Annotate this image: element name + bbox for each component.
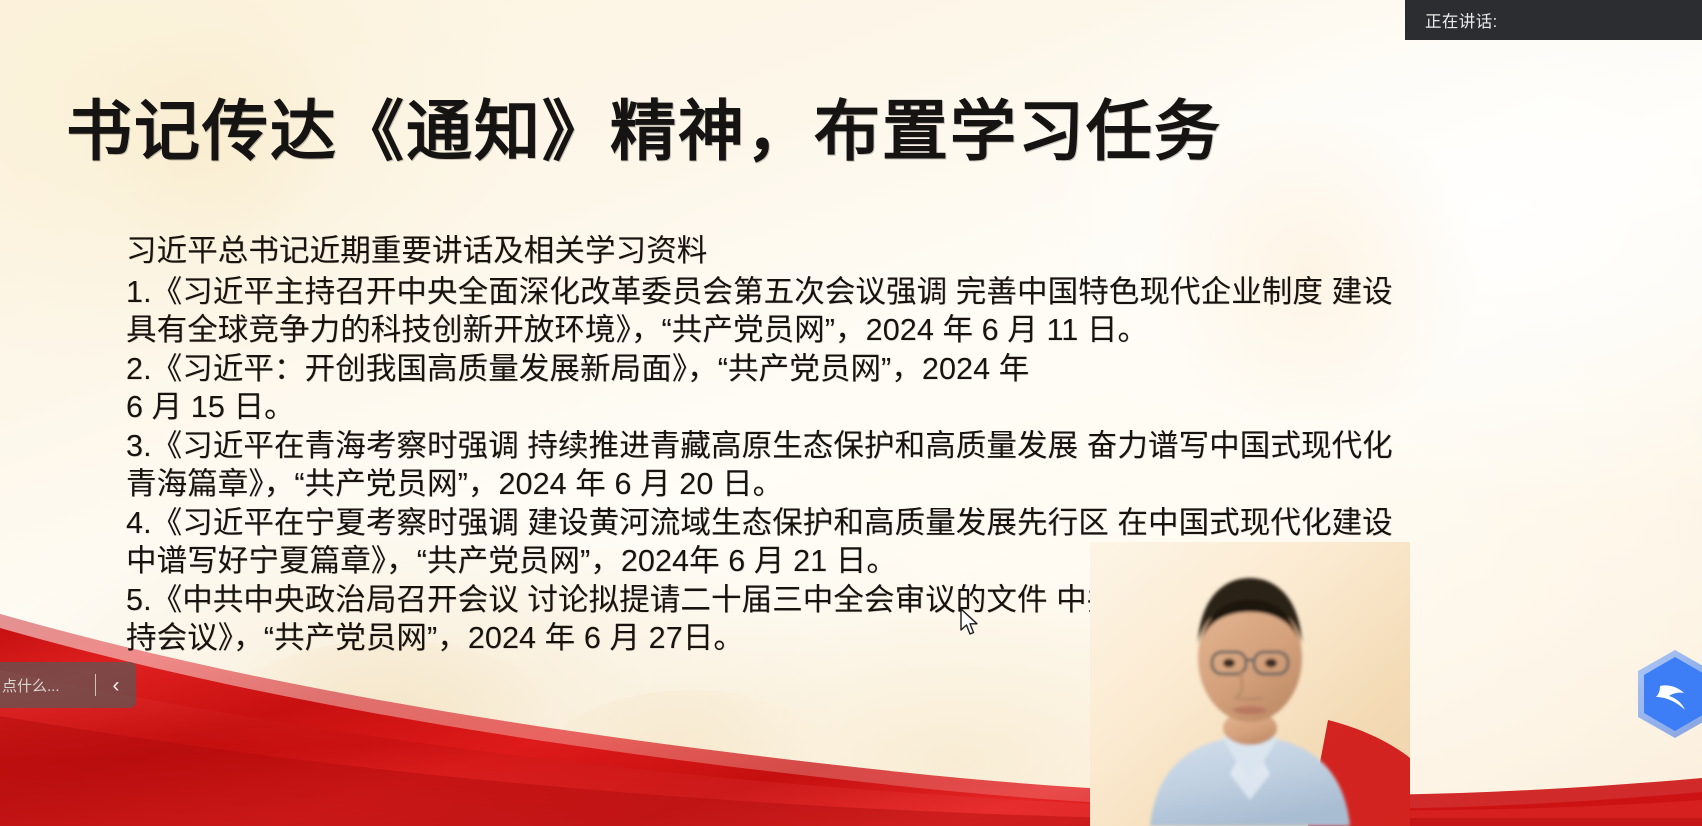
slide-title: 书记传达《通知》精神，布置学习任务: [66, 78, 1222, 174]
app-watermark-badge-icon: [1632, 648, 1702, 744]
slide-reference-item: 2.《习近平：开创我国高质量发展新局面》，“共产党员网”，2024 年: [126, 350, 1416, 389]
chat-input-bar[interactable]: 点什么... ‹: [0, 662, 136, 708]
screen-share-view: 书记传达《通知》精神，布置学习任务 习近平总书记近期重要讲话及相关学习资料 1.…: [0, 0, 1702, 826]
participant-video-thumbnail[interactable]: [1090, 542, 1410, 826]
slide-body-heading: 习近平总书记近期重要讲话及相关学习资料: [126, 232, 1416, 271]
slide-reference-item: 6 月 15 日。: [126, 388, 1416, 427]
chat-input-placeholder[interactable]: 点什么...: [0, 662, 95, 708]
cloud-motif: [180, 640, 600, 826]
speaking-status-label: 正在讲话:: [1425, 8, 1498, 32]
slide-reference-item: 1.《习近平主持召开中央全面深化改革委员会第五次会议强调 完善中国特色现代企业制…: [126, 273, 1416, 350]
chevron-left-icon[interactable]: ‹: [96, 662, 136, 708]
speaking-status-bar: 正在讲话:: [1405, 0, 1702, 40]
cloud-motif: [520, 690, 860, 826]
slide-reference-item: 3.《习近平在青海考察时强调 持续推进青藏高原生态保护和高质量发展 奋力谱写中国…: [126, 427, 1416, 504]
